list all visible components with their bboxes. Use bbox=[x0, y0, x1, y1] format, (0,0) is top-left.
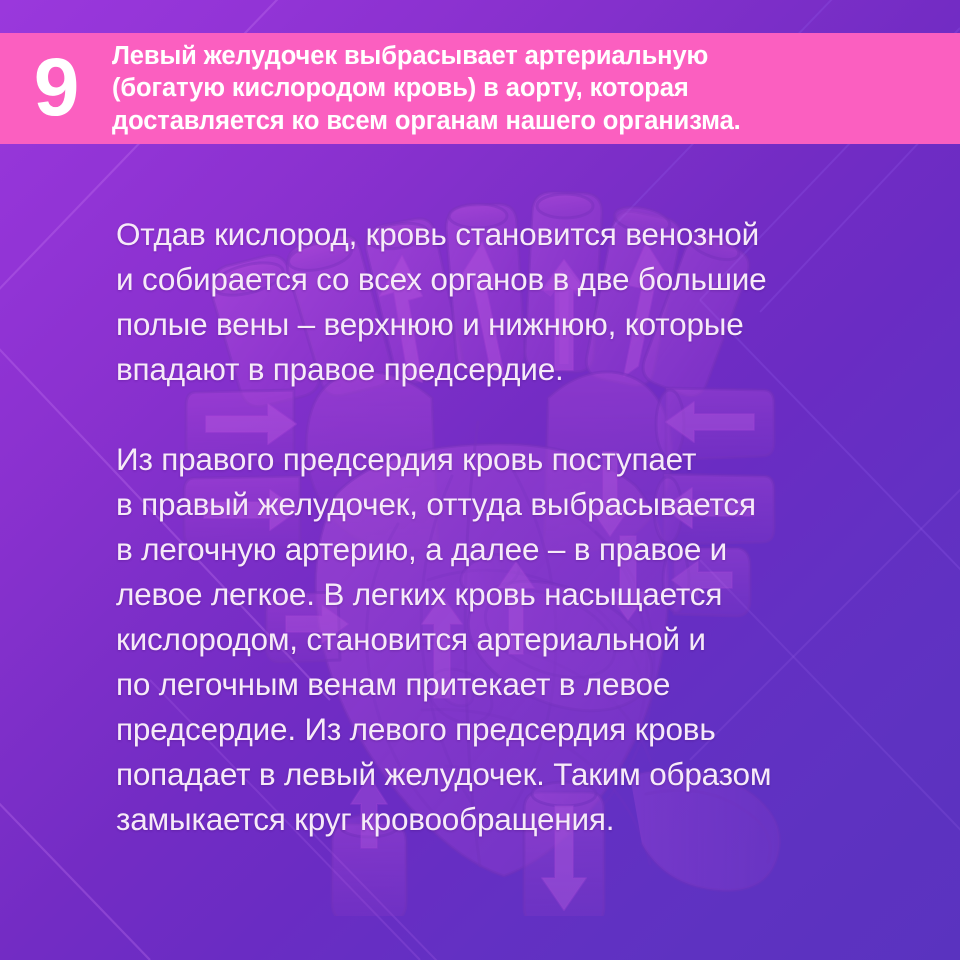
banner-line-1: Левый желудочек выбрасывает артериальную bbox=[112, 40, 741, 72]
body-copy: Отдав кислород, кровь становится венозно… bbox=[116, 212, 930, 842]
p2-line-8: попадает в левый желудочек. Таким образо… bbox=[116, 752, 930, 797]
slide-root: 9 Левый желудочек выбрасывает артериальн… bbox=[0, 0, 960, 960]
p2-line-4: левое легкое. В легких кровь насыщается bbox=[116, 572, 930, 617]
p1-line-3: полые вены – верхнюю и нижнюю, которые bbox=[116, 302, 930, 347]
p2-line-7: предсердие. Из левого предсердия кровь bbox=[116, 707, 930, 752]
p1-line-4: впадают в правое предсердие. bbox=[116, 347, 930, 392]
p2-line-5: кислородом, становится артериальной и bbox=[116, 617, 930, 662]
banner-line-2: (богатую кислородом кровь) в аорту, кото… bbox=[112, 72, 741, 104]
p2-line-2: в правый желудочек, оттуда выбрасывается bbox=[116, 482, 930, 527]
banner-heading: Левый желудочек выбрасывает артериальную… bbox=[112, 40, 755, 136]
p1-line-2: и собирается со всех органов в две больш… bbox=[116, 257, 930, 302]
header-banner: 9 Левый желудочек выбрасывает артериальн… bbox=[0, 33, 960, 144]
p2-line-9: замыкается круг кровообращения. bbox=[116, 797, 930, 842]
step-number: 9 bbox=[0, 47, 112, 129]
p1-line-1: Отдав кислород, кровь становится венозно… bbox=[116, 212, 930, 257]
p2-line-6: по легочным венам притекает в левое bbox=[116, 662, 930, 707]
paragraph-spacer bbox=[116, 392, 930, 437]
banner-line-3: доставляется ко всем органам нашего орга… bbox=[112, 105, 741, 137]
p2-line-1: Из правого предсердия кровь поступает bbox=[116, 437, 930, 482]
p2-line-3: в легочную артерию, а далее – в правое и bbox=[116, 527, 930, 572]
paragraph-one: Отдав кислород, кровь становится венозно… bbox=[116, 212, 930, 392]
paragraph-two: Из правого предсердия кровь поступает в … bbox=[116, 437, 930, 842]
